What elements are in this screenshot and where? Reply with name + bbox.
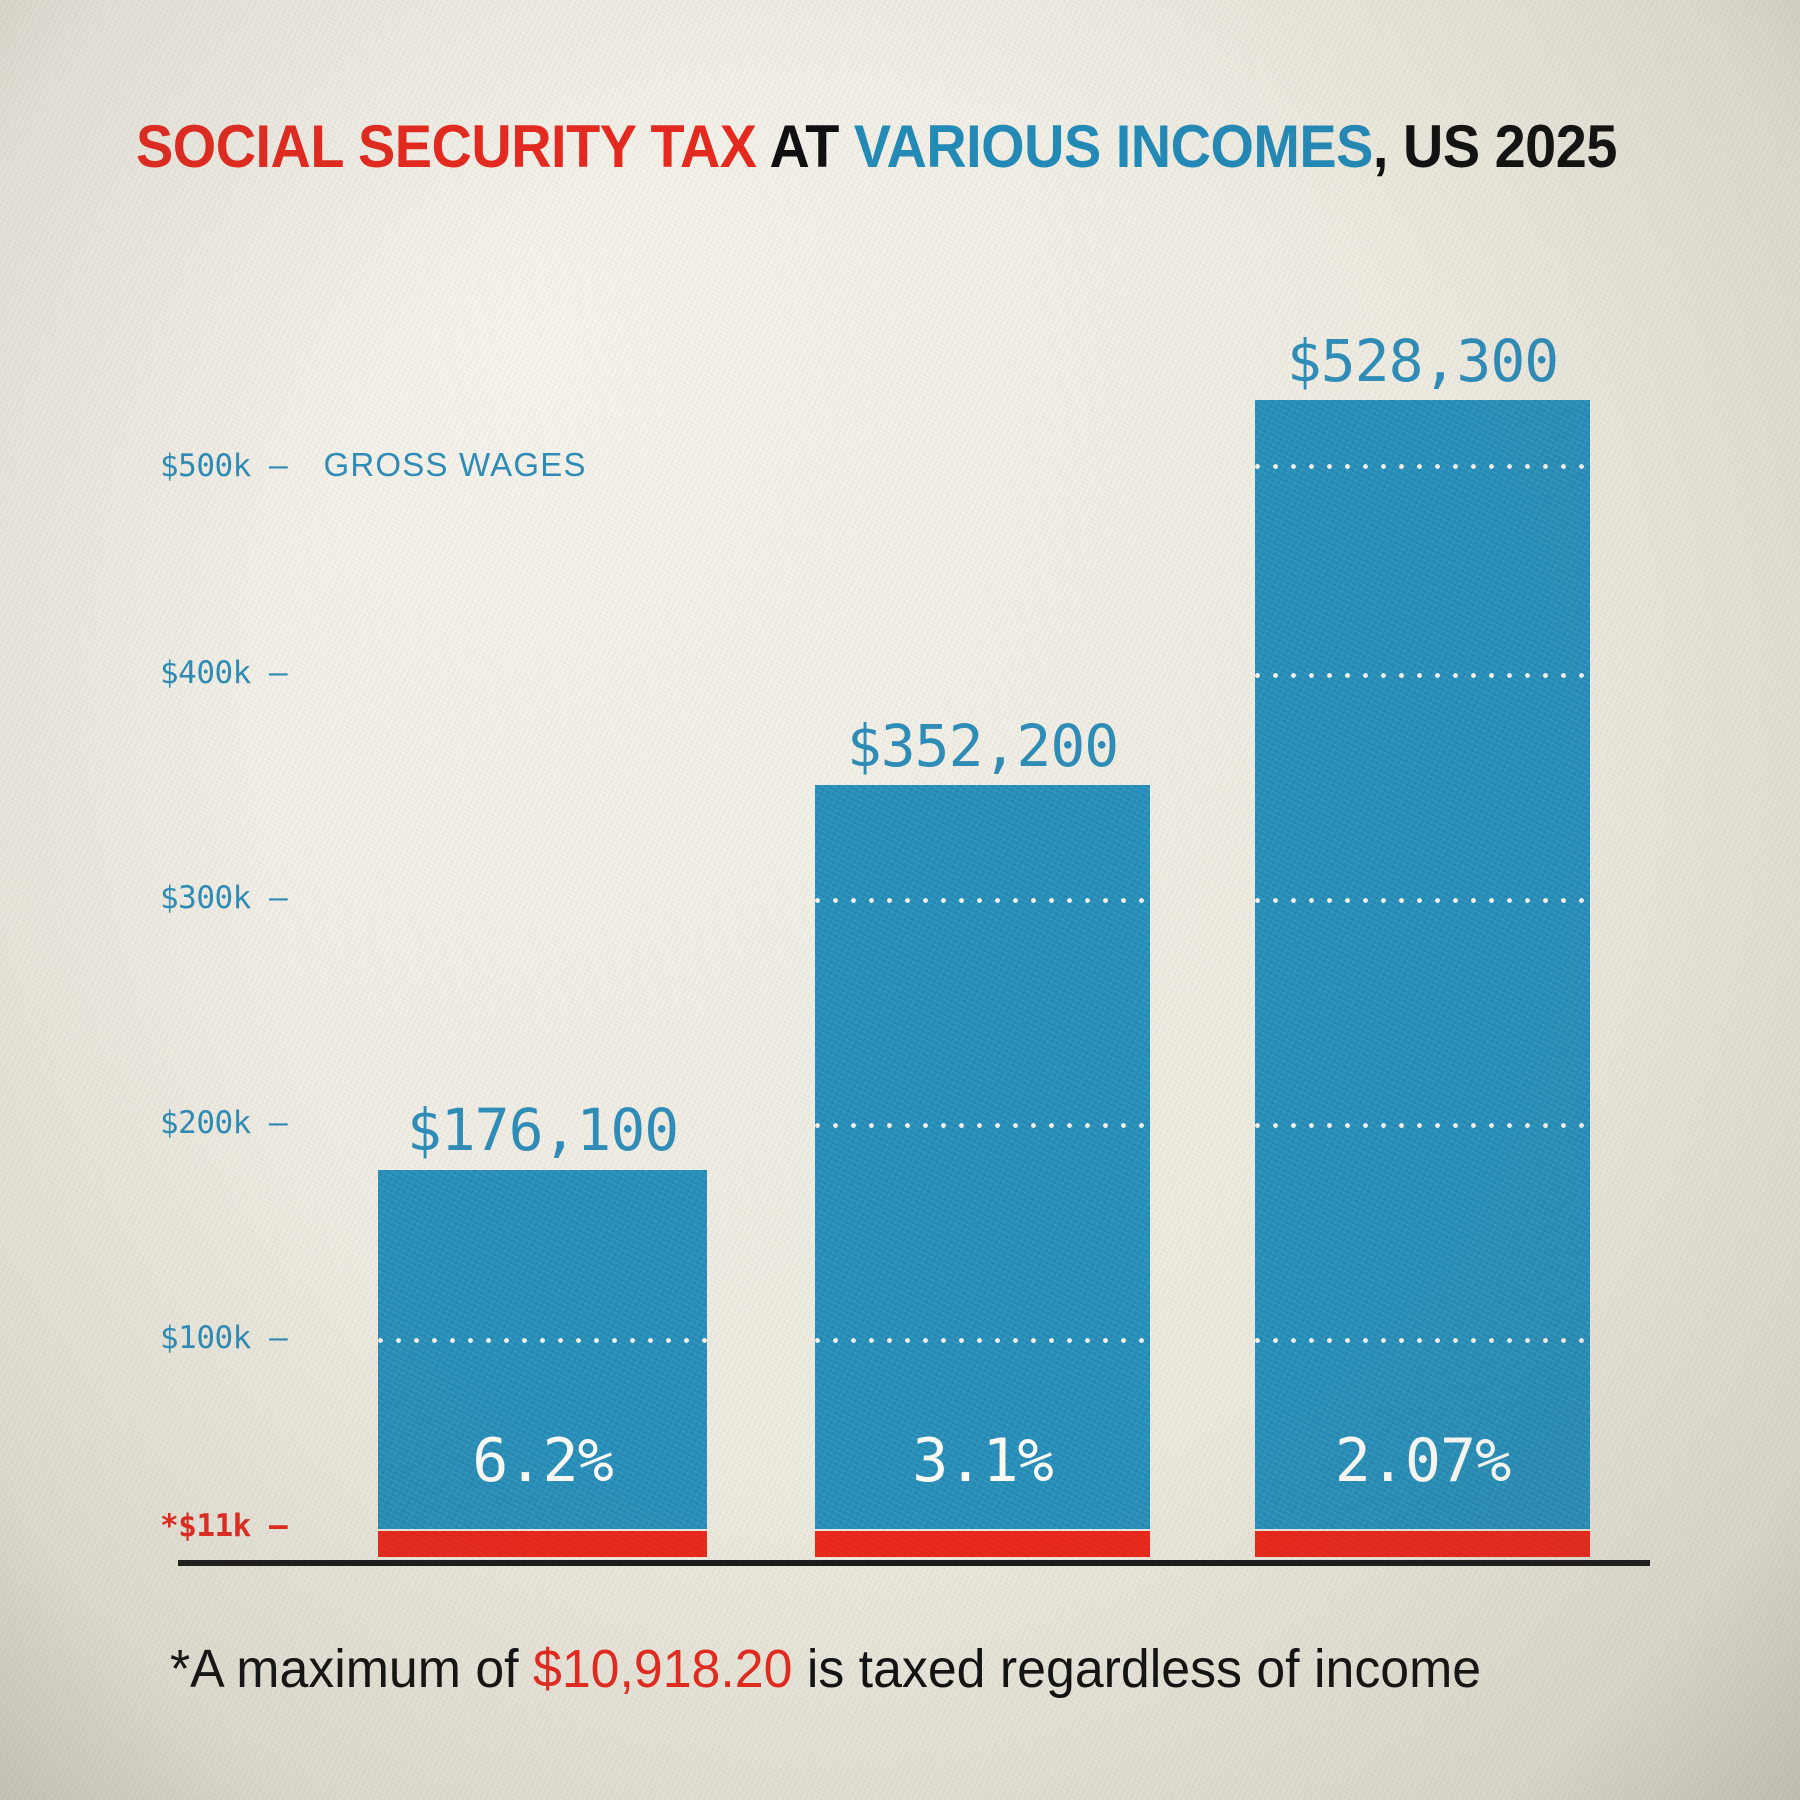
bar-blue-2[interactable]: [815, 785, 1150, 1529]
gridline-300k-bar2: [815, 898, 1150, 903]
gridline-300k-bar3: [1255, 898, 1590, 903]
infographic-canvas: SOCIAL SECURITY TAX AT VARIOUS INCOMES, …: [0, 0, 1800, 1800]
axis-legend-gross-wages: GROSS WAGES: [323, 446, 586, 483]
gridline-200k-bar3: [1255, 1123, 1590, 1128]
bar-texture: [1255, 1531, 1590, 1557]
bar-texture: [815, 1531, 1150, 1557]
gridline-400k-bar3: [1255, 673, 1590, 678]
bar-value-label-3: $528,300: [1205, 327, 1640, 395]
footnote: *A maximum of $10,918.20 is taxed regard…: [170, 1638, 1481, 1700]
bar-texture: [378, 1531, 707, 1557]
footnote-amount: $10,918.20: [533, 1639, 792, 1699]
bar-red-tax-2[interactable]: [815, 1531, 1150, 1557]
gridline-100k-bar1: [378, 1338, 707, 1343]
bar-chart: $500k – GROSS WAGES $400k – $300k – $200…: [0, 0, 1800, 1800]
bar-percent-label-3: 2.07%: [1255, 1426, 1590, 1496]
gridline-100k-bar3: [1255, 1338, 1590, 1343]
gridline-200k-bar2: [815, 1123, 1150, 1128]
bar-percent-label-2: 3.1%: [815, 1426, 1150, 1496]
axis-tick-11k: *$11k –: [160, 1508, 287, 1544]
bar-percent-label-1: 6.2%: [378, 1426, 707, 1496]
bar-red-tax-3[interactable]: [1255, 1531, 1590, 1557]
bar-blue-3[interactable]: [1255, 400, 1590, 1529]
axis-tick-300k: $300k –: [160, 880, 287, 916]
axis-tick-500k: $500k – GROSS WAGES: [160, 446, 587, 484]
axis-tick-100k: $100k –: [160, 1320, 287, 1356]
bar-value-label-1: $176,100: [338, 1096, 747, 1164]
gridline-100k-bar2: [815, 1338, 1150, 1343]
bar-texture: [1255, 400, 1590, 1529]
bar-value-label-2: $352,200: [775, 712, 1190, 780]
bar-red-tax-1[interactable]: [378, 1531, 707, 1557]
footnote-suffix: is taxed regardless of income: [792, 1639, 1481, 1699]
axis-tick-200k: $200k –: [160, 1105, 287, 1141]
footnote-prefix: *A maximum of: [170, 1639, 533, 1699]
bar-texture: [815, 785, 1150, 1529]
axis-tick-400k: $400k –: [160, 655, 287, 691]
gridline-500k-bar3: [1255, 464, 1590, 469]
x-axis-baseline: [178, 1560, 1650, 1566]
